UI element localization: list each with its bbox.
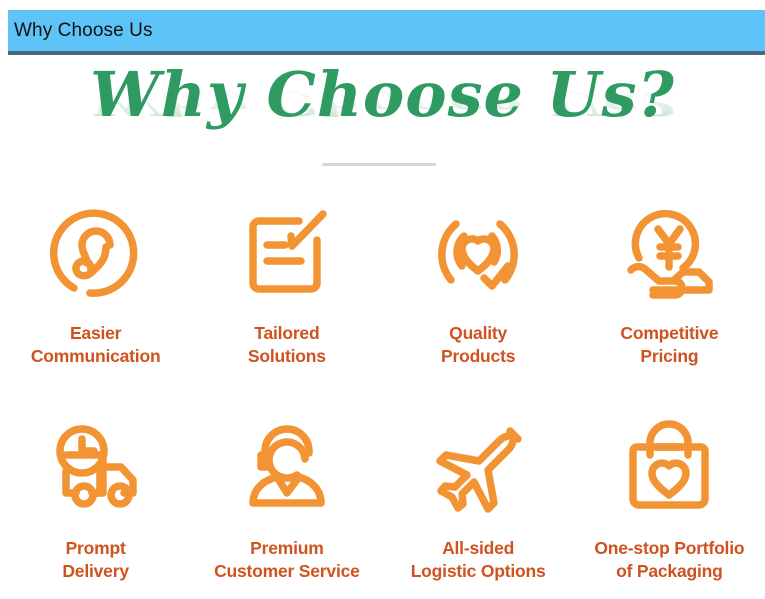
feature-item-easier-communication[interactable]: Easier Communication	[0, 196, 191, 411]
feature-item-all-sided-logistic-options[interactable]: All-sided Logistic Options	[383, 411, 574, 599]
hand-yen-coin-icon	[614, 196, 724, 308]
feature-label: Tailored Solutions	[248, 322, 326, 369]
feature-grid: Easier Communication Tailored Solutions	[0, 196, 765, 599]
feature-label: All-sided Logistic Options	[411, 537, 546, 584]
feature-item-tailored-solutions[interactable]: Tailored Solutions	[191, 196, 382, 411]
page-root: Why Choose Us Why Choose Us? Why Choose …	[0, 0, 765, 599]
ear-listening-icon	[41, 196, 151, 308]
feature-label: Competitive Pricing	[620, 322, 718, 369]
window-title: Why Choose Us	[8, 21, 153, 40]
feature-item-one-stop-portfolio-of-packaging[interactable]: One-stop Portfolio of Packaging	[574, 411, 765, 599]
airplane-icon	[423, 411, 533, 523]
page-title-reflection: Why Choose Us?	[90, 85, 675, 121]
feature-item-premium-customer-service[interactable]: Premium Customer Service	[191, 411, 382, 599]
window-titlebar: Why Choose Us	[8, 10, 765, 55]
feature-label: Premium Customer Service	[214, 537, 360, 584]
document-pen-icon	[232, 196, 342, 308]
headset-agent-icon	[232, 411, 342, 523]
feature-label: One-stop Portfolio of Packaging	[594, 537, 744, 584]
feature-label: Prompt Delivery	[62, 537, 129, 584]
feature-label: Easier Communication	[31, 322, 161, 369]
feature-item-quality-products[interactable]: Quality Products	[383, 196, 574, 411]
shopping-bag-heart-icon	[614, 411, 724, 523]
truck-clock-icon	[41, 411, 151, 523]
hero-section: Why Choose Us? Why Choose Us?	[0, 62, 765, 172]
feature-label: Quality Products	[441, 322, 515, 369]
feature-item-competitive-pricing[interactable]: Competitive Pricing	[574, 196, 765, 411]
hero-title-wrap: Why Choose Us? Why Choose Us?	[90, 62, 675, 186]
title-divider	[322, 163, 436, 166]
heart-waves-check-icon	[423, 196, 533, 308]
feature-item-prompt-delivery[interactable]: Prompt Delivery	[0, 411, 191, 599]
